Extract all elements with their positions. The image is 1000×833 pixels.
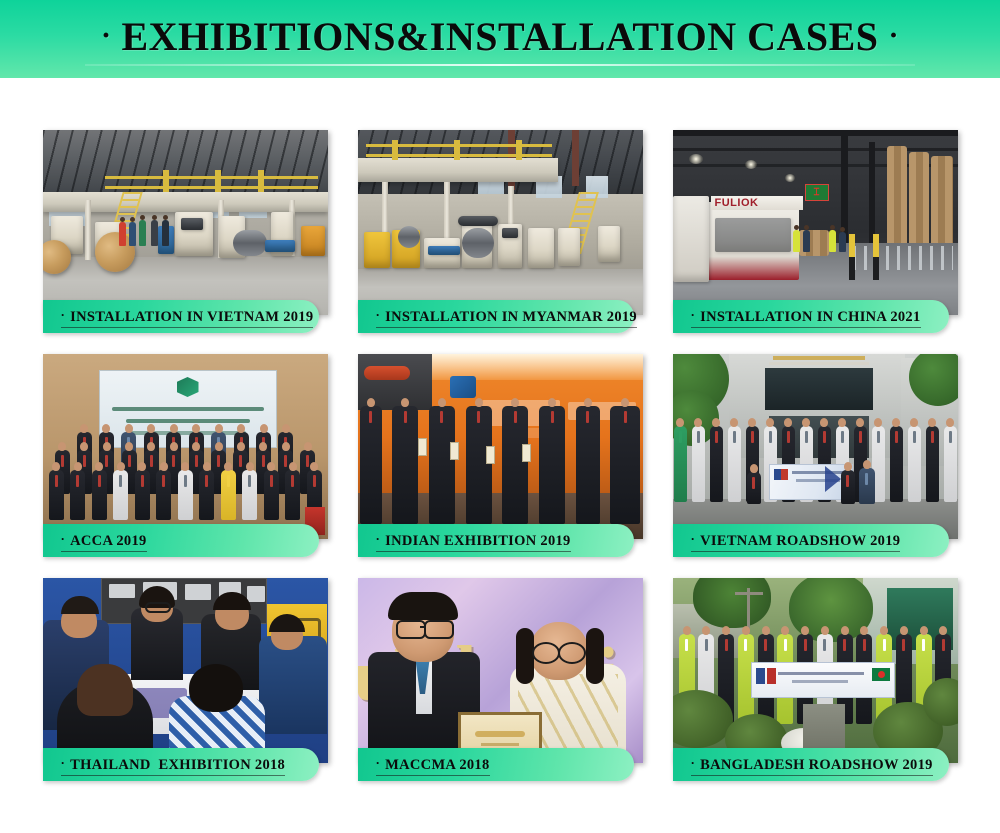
visitor-head-foreground bbox=[189, 664, 243, 712]
machine-side-windows bbox=[715, 218, 791, 252]
case-caption-vietnam-roadshow[interactable]: ·VIETNAM ROADSHOW 2019 bbox=[673, 524, 949, 557]
delegate bbox=[264, 470, 279, 520]
attendee bbox=[728, 426, 741, 502]
screen-text-line bbox=[126, 419, 250, 423]
case-caption-bangladesh-roadshow[interactable]: ·BANGLADESH ROADSHOW 2019 bbox=[673, 748, 949, 781]
railing-post bbox=[163, 170, 169, 192]
delegate bbox=[92, 470, 107, 520]
case-photo-bangladesh-roadshow bbox=[673, 578, 958, 763]
maccma-award-scene: ul l i bbox=[358, 578, 643, 763]
case-photo-vietnam-roadshow bbox=[673, 354, 958, 539]
thailand-exhibition-scene bbox=[43, 578, 328, 763]
roadshow-banner bbox=[751, 662, 895, 698]
delegate bbox=[392, 406, 418, 524]
case-caption-installation-vietnam[interactable]: ·INSTALLATION IN VIETNAM 2019 bbox=[43, 300, 319, 333]
production-machine bbox=[558, 228, 580, 266]
delegate bbox=[221, 470, 236, 520]
factory-worker bbox=[129, 222, 136, 246]
presenter-glasses-right-icon bbox=[558, 642, 586, 664]
case-photo-thailand-exhibition bbox=[43, 578, 328, 763]
attendee bbox=[710, 426, 723, 502]
ceiling-lamp-icon bbox=[785, 174, 795, 182]
case-caption-label: INSTALLATION IN CHINA 2021 bbox=[700, 309, 920, 325]
case-card-maccma-2018[interactable]: ul l i bbox=[358, 578, 643, 763]
visitor-far-right bbox=[259, 636, 327, 734]
case-caption-text: ·ACCA 2019 bbox=[61, 530, 147, 552]
factory-worker bbox=[151, 220, 158, 246]
case-card-bangladesh-roadshow[interactable]: ·BANGLADESH ROADSHOW 2019 bbox=[673, 578, 958, 763]
case-caption-acca-2019[interactable]: ·ACCA 2019 bbox=[43, 524, 319, 557]
press-drum bbox=[233, 230, 267, 256]
case-caption-installation-myanmar[interactable]: ·INSTALLATION IN MYANMAR 2019 bbox=[358, 300, 634, 333]
page-header-banner: ·EXHIBITIONS&INSTALLATION CASES· bbox=[0, 0, 1000, 78]
railing-post bbox=[516, 140, 522, 160]
caption-bullet-icon: · bbox=[61, 307, 71, 322]
delegate bbox=[502, 406, 528, 524]
case-caption-label: THAILAND EXHIBITION 2018 bbox=[70, 757, 285, 773]
safety-barrier bbox=[853, 246, 953, 270]
presenter-glasses-icon bbox=[145, 602, 171, 613]
mezzanine-railing bbox=[105, 186, 318, 189]
presenter-glasses-left-icon bbox=[532, 642, 560, 664]
display-sample bbox=[247, 586, 265, 602]
control-console bbox=[528, 228, 554, 268]
case-caption-thailand-exhibition[interactable]: ·THAILAND EXHIBITION 2018 bbox=[43, 748, 319, 781]
delegate bbox=[199, 470, 214, 520]
presenter-hair-side bbox=[586, 628, 604, 684]
name-badge bbox=[486, 446, 495, 464]
railing-post bbox=[454, 140, 460, 160]
banner-text-line bbox=[792, 680, 848, 683]
delegate bbox=[610, 406, 640, 524]
delegate-female bbox=[576, 406, 600, 524]
banner-text-line bbox=[778, 672, 864, 675]
case-caption-text: ·MACCMA 2018 bbox=[376, 754, 490, 776]
delegate bbox=[242, 470, 257, 520]
bollard bbox=[849, 234, 855, 280]
delegate bbox=[360, 406, 382, 524]
factory-scene-china: FULIOK ⌶ bbox=[673, 130, 958, 315]
name-badge bbox=[418, 438, 427, 456]
name-badge bbox=[522, 444, 531, 462]
support-column bbox=[444, 182, 450, 242]
presenter-hair-side bbox=[516, 628, 534, 684]
factory-worker bbox=[139, 220, 146, 246]
case-caption-maccma-2018[interactable]: ·MACCMA 2018 bbox=[358, 748, 634, 781]
acca-group-scene bbox=[43, 354, 328, 539]
indian-exhibition-scene bbox=[358, 354, 643, 539]
mill-roll-stand bbox=[364, 232, 390, 268]
delegate bbox=[113, 470, 128, 520]
attendee bbox=[944, 426, 957, 502]
page-title-text: EXHIBITIONS&INSTALLATION CASES bbox=[121, 14, 878, 59]
display-sample bbox=[109, 584, 135, 598]
paper-drum bbox=[398, 226, 420, 248]
banner-chevron-icon bbox=[825, 466, 841, 492]
overhead-bridge bbox=[458, 216, 498, 226]
title-bullet-left-icon: · bbox=[91, 19, 122, 52]
delegate bbox=[156, 470, 171, 520]
page-title-wrapper: ·EXHIBITIONS&INSTALLATION CASES· bbox=[85, 13, 915, 66]
mezzanine-railing bbox=[105, 176, 318, 179]
attendee bbox=[890, 426, 903, 502]
attendee-crouching bbox=[859, 468, 875, 504]
caption-bullet-icon: · bbox=[376, 531, 386, 546]
case-caption-text: ·VIETNAM ROADSHOW 2019 bbox=[691, 530, 901, 552]
delegate bbox=[285, 470, 300, 520]
caption-bullet-icon: · bbox=[376, 755, 386, 770]
machine-end-unit bbox=[673, 196, 709, 282]
console-display bbox=[502, 228, 518, 238]
case-caption-text: ·INSTALLATION IN CHINA 2021 bbox=[691, 306, 921, 328]
machine-blue-panel bbox=[265, 240, 295, 252]
case-photo-maccma-2018: ul l i bbox=[358, 578, 643, 763]
attendee-crouching bbox=[747, 472, 761, 504]
production-machine bbox=[598, 226, 620, 262]
fuliok-brand-label: FULIOK bbox=[715, 196, 759, 210]
bangladesh-roadshow-scene bbox=[673, 578, 958, 763]
case-photo-installation-myanmar bbox=[358, 130, 643, 315]
banner-logo-icon bbox=[774, 469, 788, 480]
case-card-installation-myanmar[interactable]: ·INSTALLATION IN MYANMAR 2019 bbox=[358, 130, 643, 315]
bangladesh-flag-icon bbox=[872, 668, 890, 681]
support-column bbox=[85, 200, 91, 260]
delegate bbox=[70, 470, 85, 520]
exit-sign-glyph: ⌶ bbox=[814, 187, 820, 198]
banner-logo-icon bbox=[756, 668, 765, 684]
booth-logo-icon bbox=[450, 376, 476, 398]
recipient-glasses-left-icon bbox=[396, 620, 426, 639]
award-recipient-hair bbox=[388, 592, 458, 620]
factory-scene-vietnam bbox=[43, 130, 328, 315]
caption-bullet-icon: · bbox=[691, 307, 701, 322]
case-card-installation-vietnam[interactable]: ·INSTALLATION IN VIETNAM 2019 bbox=[43, 130, 328, 315]
attendee bbox=[674, 426, 687, 502]
delegate bbox=[466, 406, 492, 524]
name-badge bbox=[450, 442, 459, 460]
booth-left-graphic bbox=[364, 366, 410, 380]
roof-beam bbox=[673, 148, 958, 151]
case-photo-installation-china: FULIOK ⌶ bbox=[673, 130, 958, 315]
building-signage bbox=[773, 356, 865, 360]
forklift bbox=[301, 226, 325, 256]
delegate-row-front bbox=[45, 470, 326, 520]
case-caption-label: ACCA 2019 bbox=[70, 533, 146, 549]
case-caption-text: ·BANGLADESH ROADSHOW 2019 bbox=[691, 754, 933, 776]
delegate bbox=[539, 406, 565, 524]
building-signage bbox=[769, 362, 869, 365]
case-photo-indian-exhibition bbox=[358, 354, 643, 539]
case-caption-label: INSTALLATION IN VIETNAM 2019 bbox=[70, 309, 313, 325]
railing-post bbox=[258, 170, 264, 192]
title-underline-rule bbox=[85, 64, 915, 66]
delegate-group bbox=[358, 406, 643, 524]
roof-beam bbox=[673, 130, 958, 136]
recipient-glasses-right-icon bbox=[424, 620, 454, 639]
factory-worker bbox=[119, 222, 126, 246]
cases-gallery-grid: ·INSTALLATION IN VIETNAM 2019 bbox=[0, 78, 1000, 799]
case-caption-text: ·INSTALLATION IN VIETNAM 2019 bbox=[61, 306, 314, 328]
acca-logo-icon bbox=[177, 377, 199, 397]
building-window bbox=[765, 368, 873, 410]
case-card-thailand-exhibition[interactable]: ·THAILAND EXHIBITION 2018 bbox=[43, 578, 328, 763]
machine-blue-panel bbox=[428, 246, 460, 255]
case-caption-text: ·THAILAND EXHIBITION 2018 bbox=[61, 754, 286, 776]
roof-truss-column bbox=[572, 130, 579, 186]
case-caption-label: VIETNAM ROADSHOW 2019 bbox=[700, 533, 900, 549]
case-card-vietnam-roadshow[interactable]: ·VIETNAM ROADSHOW 2019 bbox=[673, 354, 958, 539]
title-bullet-right-icon: · bbox=[879, 19, 910, 52]
delegate bbox=[49, 470, 64, 520]
factory-roof bbox=[43, 130, 328, 194]
worker bbox=[839, 232, 846, 252]
case-caption-label: BANGLADESH ROADSHOW 2019 bbox=[700, 757, 933, 773]
case-caption-text: ·INDIAN EXHIBITION 2019 bbox=[376, 530, 571, 552]
case-card-installation-china[interactable]: FULIOK ⌶ ·INSTALLATION IN CHINA 2021 bbox=[673, 130, 958, 315]
caption-bullet-icon: · bbox=[61, 531, 71, 546]
console-display bbox=[181, 218, 203, 230]
case-card-acca-2019[interactable]: ·ACCA 2019 bbox=[43, 354, 328, 539]
delegate bbox=[178, 470, 193, 520]
attendee bbox=[692, 426, 705, 502]
caption-bullet-icon: · bbox=[61, 755, 71, 770]
certificate-seal-icon bbox=[475, 731, 525, 737]
tree-foliage bbox=[693, 578, 771, 628]
case-photo-acca-2019 bbox=[43, 354, 328, 539]
delegate bbox=[135, 470, 150, 520]
caption-bullet-icon: · bbox=[376, 307, 386, 322]
case-caption-label: INSTALLATION IN MYANMAR 2019 bbox=[385, 309, 637, 325]
exit-sign-icon: ⌶ bbox=[805, 184, 829, 201]
attendee bbox=[908, 426, 921, 502]
delegate bbox=[429, 406, 455, 524]
worker bbox=[803, 230, 810, 252]
screen-text-line bbox=[112, 407, 264, 411]
case-caption-label: MACCMA 2018 bbox=[385, 757, 489, 773]
ceiling-lamp-icon bbox=[745, 160, 757, 169]
flag-circle-icon bbox=[878, 671, 885, 678]
attendee-crouching bbox=[841, 470, 855, 504]
pole-crossarm bbox=[735, 592, 763, 595]
glasses-bridge-icon bbox=[420, 626, 426, 628]
certificate-text-line bbox=[481, 743, 519, 746]
banner-logo-icon bbox=[767, 668, 776, 684]
case-caption-installation-china[interactable]: ·INSTALLATION IN CHINA 2021 bbox=[673, 300, 949, 333]
press-drum bbox=[462, 228, 494, 258]
worker-hi-vis bbox=[793, 230, 800, 252]
factory-mezzanine bbox=[358, 158, 558, 182]
vietnam-roadshow-scene bbox=[673, 354, 958, 539]
page-title: ·EXHIBITIONS&INSTALLATION CASES· bbox=[91, 13, 909, 60]
visitor-ponytail bbox=[77, 664, 133, 716]
case-caption-label: INDIAN EXHIBITION 2019 bbox=[385, 533, 570, 549]
railing-post bbox=[215, 170, 221, 192]
ceiling-lamp-icon bbox=[689, 154, 703, 164]
railing-post bbox=[392, 140, 398, 160]
case-caption-indian-exhibition[interactable]: ·INDIAN EXHIBITION 2019 bbox=[358, 524, 634, 557]
factory-worker bbox=[162, 220, 169, 246]
worker-hi-vis bbox=[829, 230, 836, 252]
case-photo-installation-vietnam bbox=[43, 130, 328, 315]
factory-scene-myanmar bbox=[358, 130, 643, 315]
case-caption-text: ·INSTALLATION IN MYANMAR 2019 bbox=[376, 306, 637, 328]
attendee bbox=[926, 426, 939, 502]
bollard bbox=[873, 234, 879, 280]
display-sample bbox=[185, 584, 211, 600]
case-card-indian-exhibition[interactable]: ·INDIAN EXHIBITION 2019 bbox=[358, 354, 643, 539]
caption-bullet-icon: · bbox=[691, 531, 701, 546]
caption-bullet-icon: · bbox=[691, 755, 701, 770]
